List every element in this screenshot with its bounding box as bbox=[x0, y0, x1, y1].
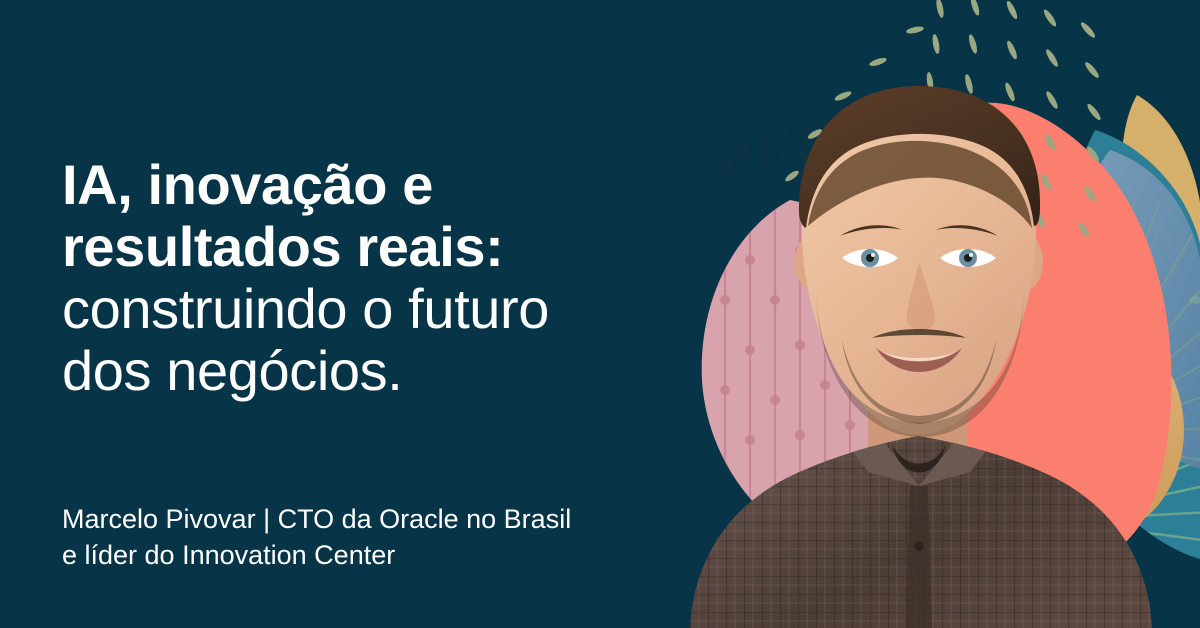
headline-bold-line-1: IA, inovação e bbox=[62, 154, 662, 216]
speaker-byline: Marcelo Pivovar | CTO da Oracle no Brasi… bbox=[62, 501, 662, 573]
promo-banner: IA, inovação e resultados reais: constru… bbox=[0, 0, 1200, 628]
copy-block: IA, inovação e resultados reais: constru… bbox=[62, 0, 682, 628]
headline-light-line-1: construindo o futuro bbox=[62, 278, 662, 340]
byline-line-2: e líder do Innovation Center bbox=[62, 537, 662, 573]
headline-bold-line-2: resultados reais: bbox=[62, 216, 662, 278]
headline-light-line-2: dos negócios. bbox=[62, 340, 662, 402]
byline-line-1: Marcelo Pivovar | CTO da Oracle no Brasi… bbox=[62, 501, 662, 537]
page-title: IA, inovação e resultados reais: constru… bbox=[62, 154, 662, 402]
decorative-artwork bbox=[640, 0, 1200, 628]
